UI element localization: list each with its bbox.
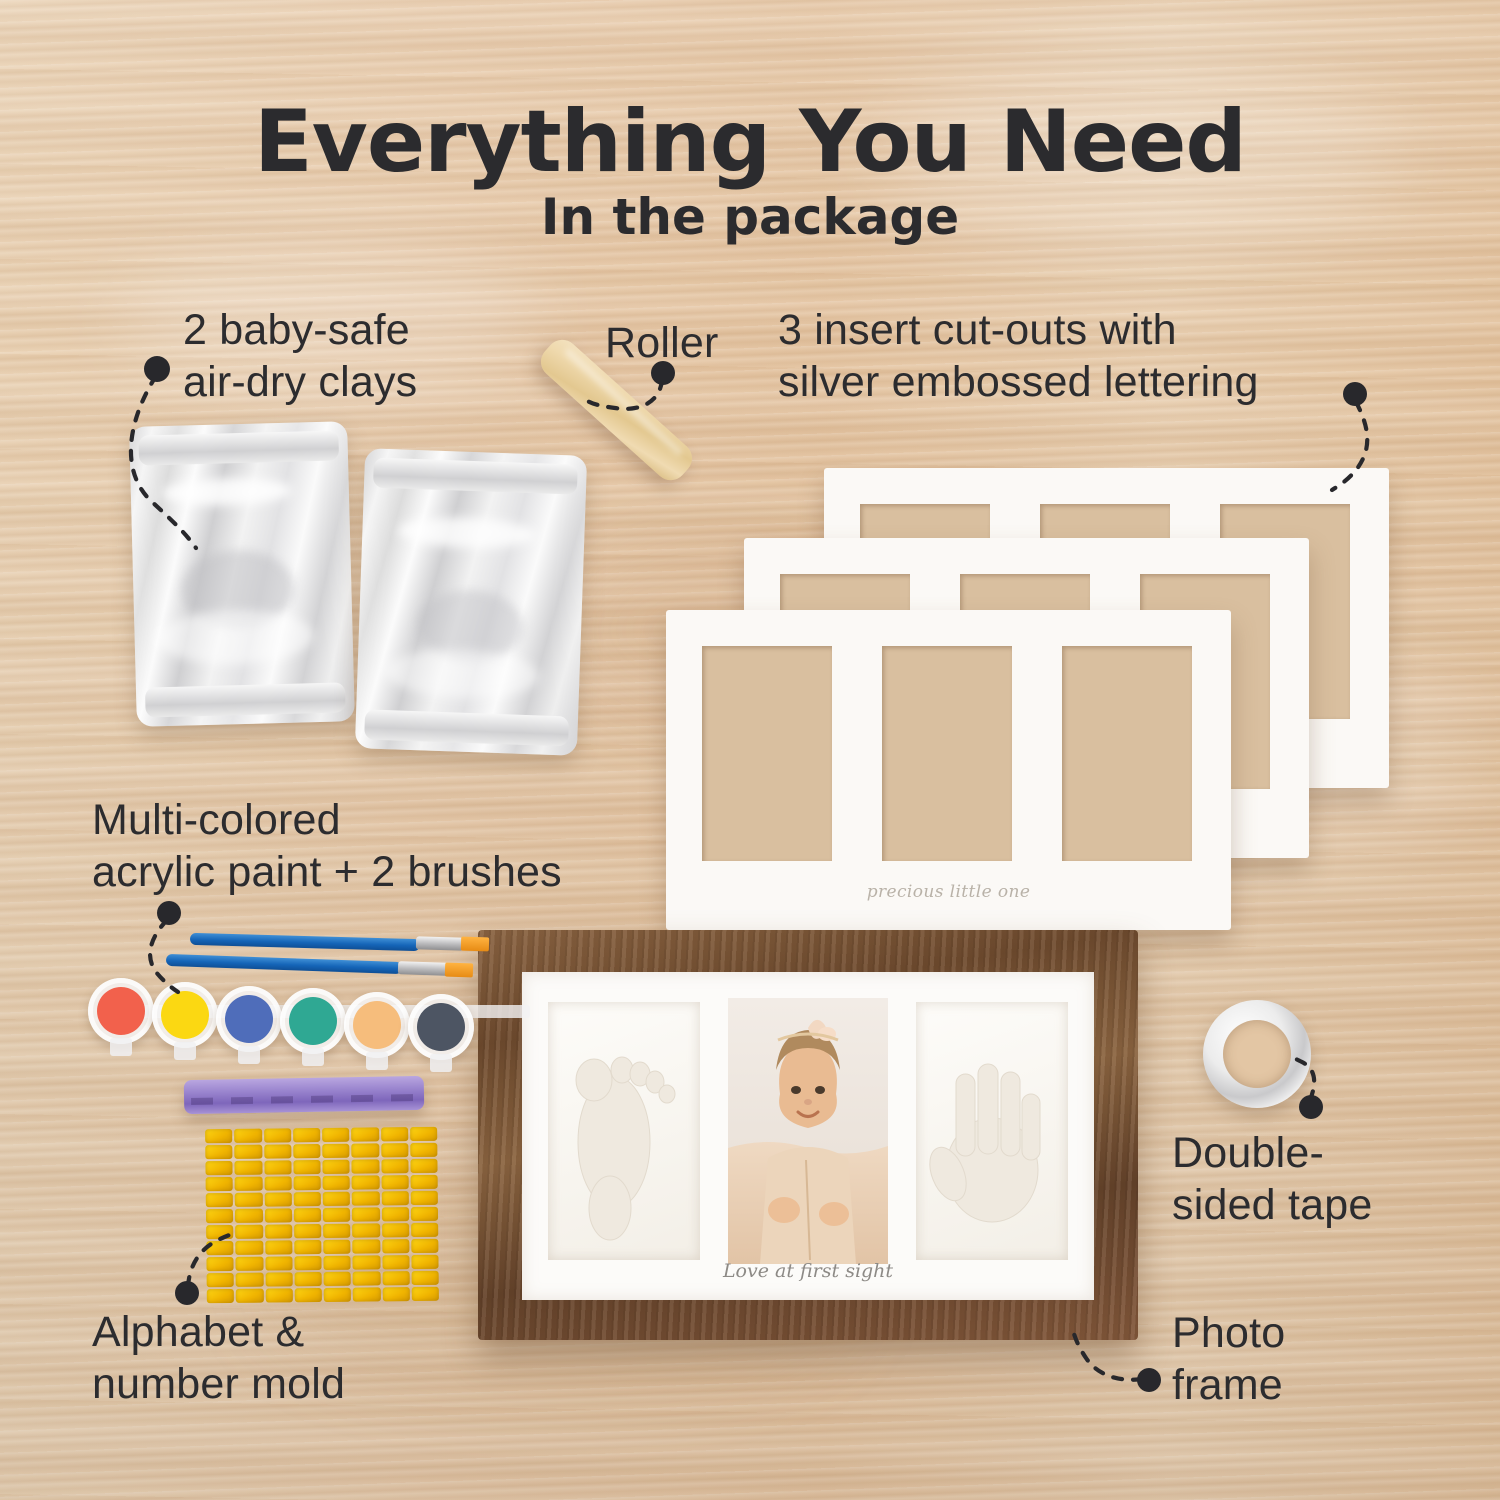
connector-frame (0, 0, 1500, 1500)
infographic-canvas: Everything You Need In the package Bundl… (0, 0, 1500, 1500)
